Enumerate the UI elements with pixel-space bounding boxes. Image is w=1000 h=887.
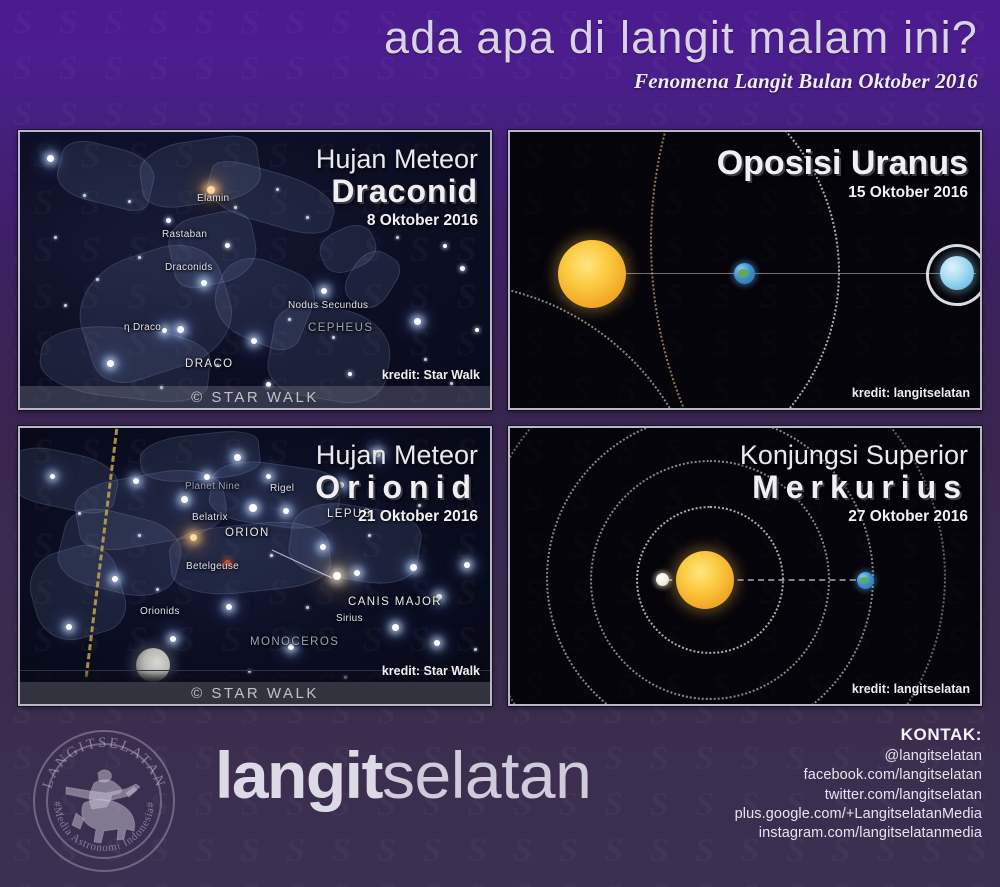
star-label-rigel: Rigel (270, 483, 294, 494)
panel-date: 27 Oktober 2016 (740, 508, 968, 526)
star-label-bellatrix: Belatrix (192, 512, 228, 523)
star-point (66, 624, 72, 630)
label-orionids: Orionids (140, 606, 180, 617)
star-betelgeuse (190, 534, 197, 541)
panel-heading-merkurius: Konjungsi Superior Merkurius 27 Oktober … (740, 440, 968, 526)
star-point (424, 358, 427, 361)
watermark-text: © STAR WALK (191, 685, 319, 702)
star-rigel (266, 474, 271, 479)
panel-uranus[interactable]: SSSSSSSSSSSSSSSSSSSSSSSSSSSSSSSSSSSSSSSS… (508, 130, 982, 410)
star-rastaban (166, 218, 171, 223)
star-point (47, 155, 54, 162)
star-point (306, 606, 309, 609)
star-point (475, 328, 479, 332)
star-point (83, 194, 86, 197)
star-point (410, 564, 417, 571)
wordmark-selatan: selatan (382, 738, 591, 812)
star-nodus-secundus (321, 288, 327, 294)
star-point (354, 570, 360, 576)
contact-facebook[interactable]: facebook.com/langitselatan (735, 766, 982, 785)
star-point (251, 338, 257, 344)
star-point (450, 382, 453, 385)
opposition-sightline (596, 273, 976, 274)
wordmark-langit: langit (215, 738, 382, 812)
sun-body (558, 240, 626, 308)
centaur-archer-icon (66, 770, 140, 843)
panel-name: Draconid (316, 174, 478, 210)
mercury-body (656, 573, 669, 586)
star-label-sirius: Sirius (336, 613, 363, 624)
star-point (162, 328, 167, 333)
star-label-eta-draco: η Draco (124, 322, 161, 333)
star-point (133, 478, 139, 484)
earth-body (734, 263, 755, 284)
star-point (107, 360, 114, 367)
star-point (138, 256, 141, 259)
star-point (443, 244, 447, 248)
constellation-label-orion: ORION (225, 527, 270, 539)
star-label-draconids: Draconids (165, 262, 213, 273)
star-point (225, 243, 230, 248)
page-subtitle: Fenomena Langit Bulan Oktober 2016 (0, 69, 978, 94)
contact-instagram[interactable]: instagram.com/langitselatanmedia (735, 824, 982, 843)
watermark-text: © STAR WALK (191, 389, 319, 406)
star-point (474, 648, 477, 651)
contact-twitter[interactable]: twitter.com/langitselatan (735, 786, 982, 805)
star-point (414, 318, 421, 325)
panel-heading-uranus: Oposisi Uranus 15 Oktober 2016 (717, 144, 968, 202)
star-point (96, 278, 99, 281)
star-point (348, 372, 352, 376)
star-point (204, 474, 210, 480)
star-point (226, 604, 232, 610)
star-label-rastaban: Rastaban (162, 229, 207, 240)
star-point (276, 188, 279, 191)
star-label-nodus-secundus: Nodus Secundus (288, 300, 368, 311)
starwalk-watermark: © STAR WALK (20, 386, 490, 408)
panel-orionid[interactable]: SSSSSSSSSSSSSSSSSSSSSSSSSSSSSSSSSSSSSSSS… (18, 426, 492, 706)
panel-draconid[interactable]: SSSSSSSSSSSSSSSSSSSSSSSSSSSSSSSSSSSSSSSS… (18, 130, 492, 410)
constellation-label-monoceros: MONOCEROS (250, 636, 339, 648)
panel-name: Merkurius (740, 470, 968, 506)
langitselatan-seal-logo: LANGITSELATAN #Media Astronomi Indonesia… (30, 727, 178, 875)
contact-heading: KONTAK: (735, 725, 982, 745)
panel-credit: kredit: langitselatan (852, 386, 970, 400)
starwalk-watermark: © STAR WALK (20, 682, 490, 704)
star-point (234, 206, 237, 209)
contact-handle[interactable]: @langitselatan (735, 747, 982, 766)
constellation-label-draco: DRACO (185, 358, 234, 370)
panel-date: 21 Oktober 2016 (315, 508, 478, 526)
star-point (396, 236, 399, 239)
panel-credit: kredit: Star Walk (382, 368, 480, 382)
star-point (464, 562, 470, 568)
star-point (78, 512, 81, 515)
star-point (201, 280, 207, 286)
constellation-label-canis-major: CANIS MAJOR (348, 596, 442, 608)
star-point (434, 640, 440, 646)
star-point (392, 624, 399, 631)
star-point (368, 534, 371, 537)
panel-date: 8 Oktober 2016 (316, 212, 478, 230)
star-point (128, 200, 131, 203)
star-point (306, 216, 309, 219)
panel-title-uranus: Oposisi Uranus (717, 144, 968, 182)
contact-block: KONTAK: @langitselatan facebook.com/lang… (735, 725, 982, 843)
star-bellatrix (181, 496, 188, 503)
star-label-eltanin: Elamin (197, 193, 229, 204)
panel-kicker: Hujan Meteor (315, 440, 478, 470)
panel-date: 15 Oktober 2016 (717, 184, 968, 202)
star-point (112, 576, 118, 582)
star-point (138, 534, 141, 537)
panel-heading-orionid: Hujan Meteor Orionid 21 Oktober 2016 (315, 440, 478, 526)
page-title: ada apa di langit malam ini? (0, 14, 978, 61)
star-point (54, 236, 57, 239)
star-point (64, 304, 67, 307)
star-point (50, 474, 55, 479)
star-point (332, 336, 335, 339)
panel-heading-draconid: Hujan Meteor Draconid 8 Oktober 2016 (316, 144, 478, 230)
panel-credit: kredit: langitselatan (852, 682, 970, 696)
footer-wordmark: langitselatan (215, 742, 591, 808)
star-point (460, 266, 465, 271)
star-point (288, 318, 291, 321)
star-point (320, 544, 326, 550)
header: ada apa di langit malam ini? Fenomena La… (0, 14, 978, 94)
star-point (170, 636, 176, 642)
earth-body (857, 572, 874, 589)
poster: SSSSSSSSSSSSSSSSSSSSSSSSSSSSSSSSSSSSSSSS… (0, 0, 1000, 887)
contact-googleplus[interactable]: plus.google.com/+LangitselatanMedia (735, 805, 982, 824)
star-point (249, 504, 257, 512)
panel-name: Orionid (315, 470, 478, 506)
star-point (156, 588, 159, 591)
panel-kicker: Konjungsi Superior (740, 440, 968, 470)
star-label-betelgeuse: Betelgeuse (186, 561, 239, 572)
star-sirius (333, 572, 341, 580)
star-point (283, 508, 289, 514)
sun-body (676, 551, 734, 609)
panel-credit: kredit: Star Walk (382, 664, 480, 678)
star-point (177, 326, 184, 333)
constellation-label-cepheus: CEPHEUS (308, 322, 373, 334)
star-point (270, 554, 273, 557)
star-point (234, 454, 241, 461)
label-planet-nine: Planet Nine (185, 481, 240, 492)
uranus-body (940, 256, 974, 290)
panel-merkurius[interactable]: SSSSSSSSSSSSSSSSSSSSSSSSSSSSSSSSSSSSSSSS… (508, 426, 982, 706)
panel-kicker: Hujan Meteor (316, 144, 478, 174)
